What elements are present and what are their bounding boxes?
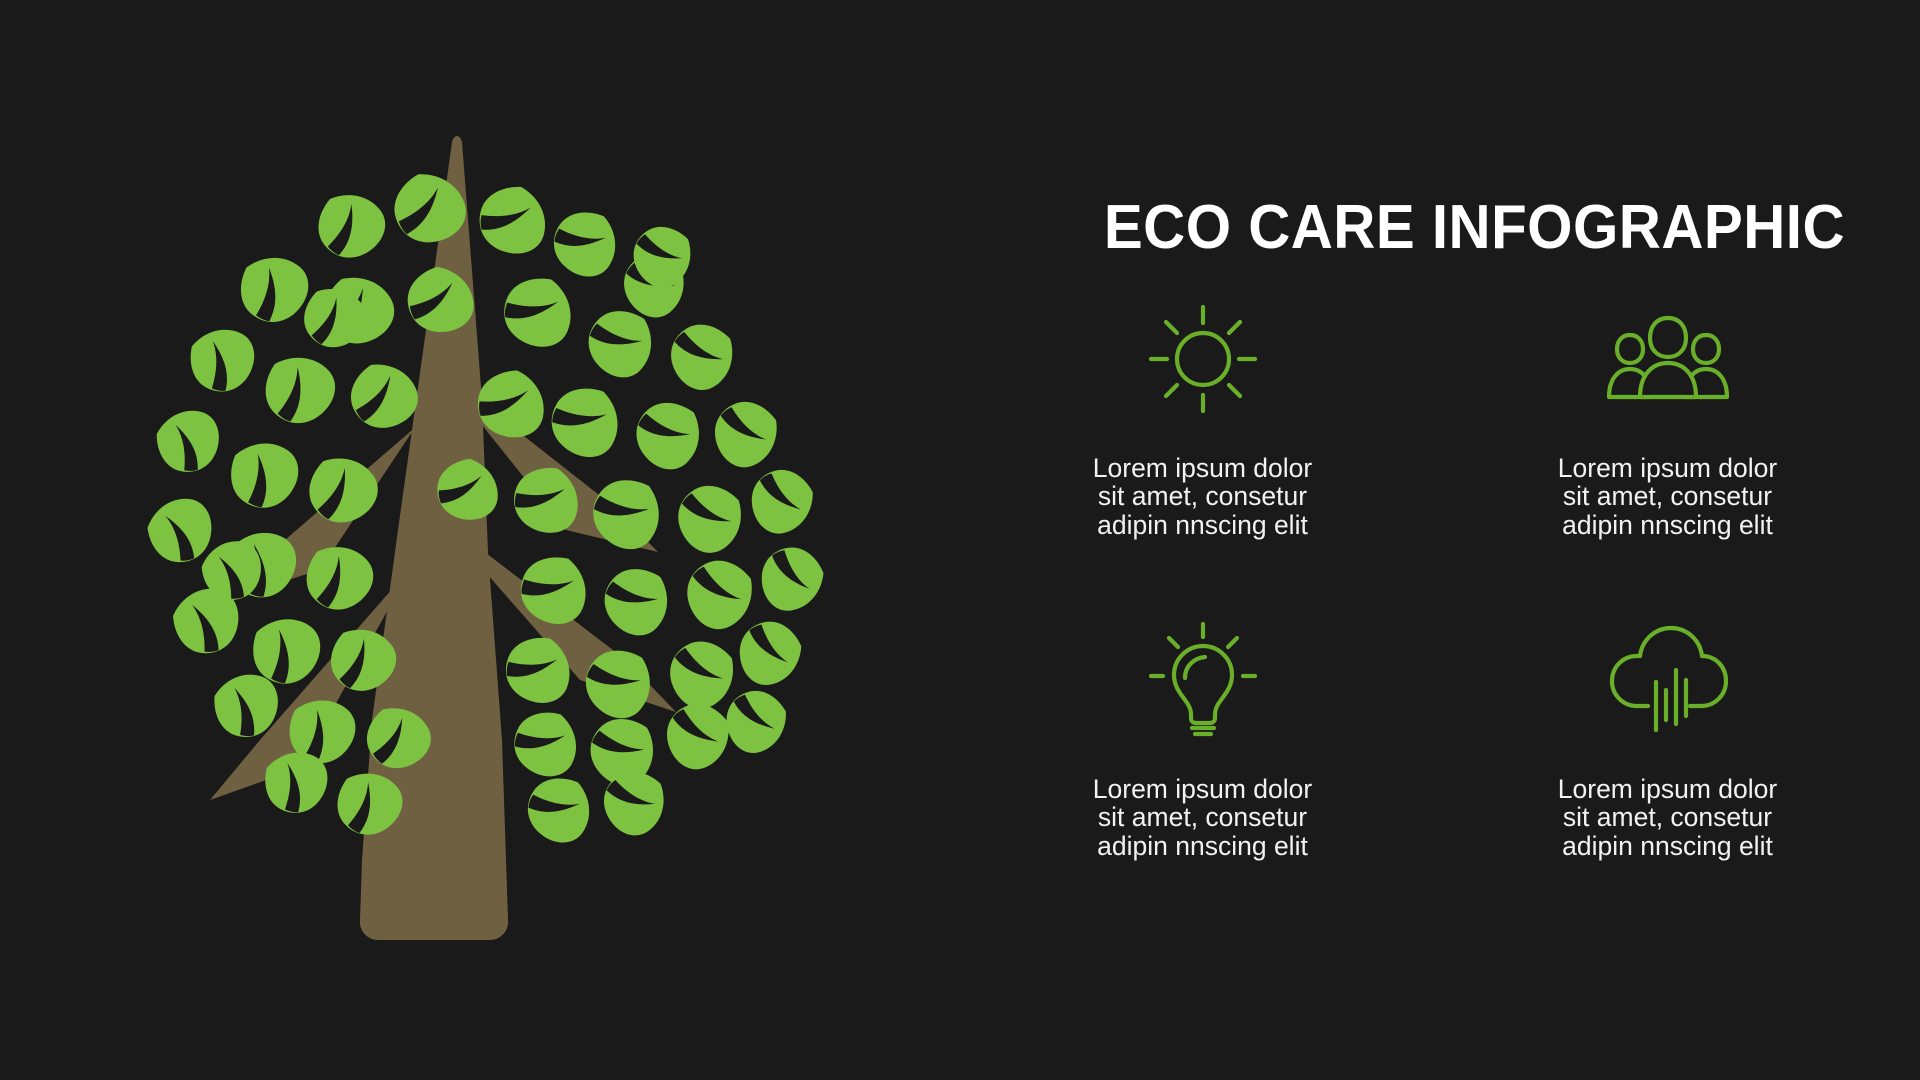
feature-line: adipin nnscing elit [1503,832,1833,860]
cloud-rain-icon [1593,621,1743,739]
sun-icon [1128,300,1278,418]
feature-line: Lorem ipsum dolor [1503,775,1833,803]
feature-line: sit amet, consetur [1503,803,1833,831]
lightbulb-icon [1128,621,1278,739]
feature-grid: Lorem ipsum dolor sit amet, consetur adi… [970,300,1900,860]
feature-description: Lorem ipsum dolor sit amet, consetur adi… [1503,454,1833,539]
feature-line: sit amet, consetur [1038,803,1368,831]
feature-description: Lorem ipsum dolor sit amet, consetur adi… [1038,454,1368,539]
feature-line: sit amet, consetur [1503,482,1833,510]
feature-description: Lorem ipsum dolor sit amet, consetur adi… [1038,775,1368,860]
feature-item-sun[interactable]: Lorem ipsum dolor sit amet, consetur adi… [970,300,1435,539]
infographic-slide: ECO CARE INFOGRAPHIC [0,0,1920,1080]
feature-line: adipin nnscing elit [1503,511,1833,539]
page-title: ECO CARE INFOGRAPHIC [1013,197,1845,259]
feature-description: Lorem ipsum dolor sit amet, consetur adi… [1503,775,1833,860]
content-panel: ECO CARE INFOGRAPHIC [960,0,1920,1080]
eco-tree-illustration [110,100,930,980]
feature-line: Lorem ipsum dolor [1503,454,1833,482]
feature-line: adipin nnscing elit [1038,511,1368,539]
feature-line: Lorem ipsum dolor [1038,454,1368,482]
feature-item-lightbulb[interactable]: Lorem ipsum dolor sit amet, consetur adi… [970,621,1435,860]
feature-item-people[interactable]: Lorem ipsum dolor sit amet, consetur adi… [1435,300,1900,539]
feature-item-cloud-rain[interactable]: Lorem ipsum dolor sit amet, consetur adi… [1435,621,1900,860]
feature-line: adipin nnscing elit [1038,832,1368,860]
feature-line: Lorem ipsum dolor [1038,775,1368,803]
feature-line: sit amet, consetur [1038,482,1368,510]
people-group-icon [1593,300,1743,418]
